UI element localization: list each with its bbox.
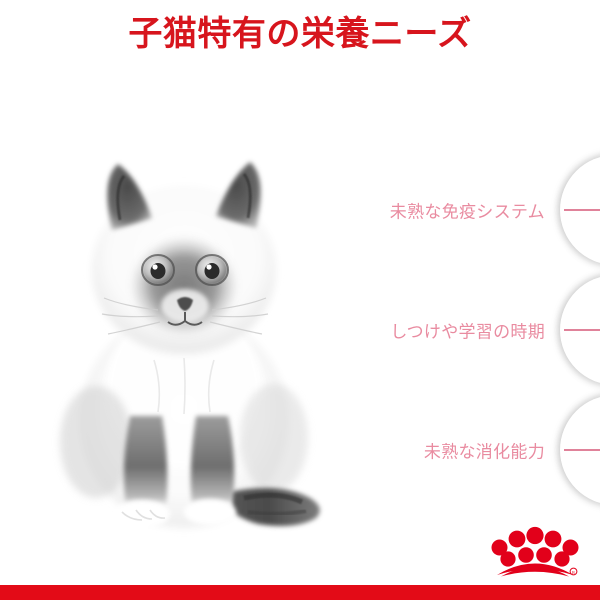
callout-connector-3	[564, 449, 600, 451]
kitten-nutrition-infographic: 子猫特有の栄養ニーズ	[0, 0, 600, 600]
kitten-photo	[34, 120, 354, 540]
callout-row-3: 未熟な消化能力	[330, 395, 600, 505]
callout-label-1: 未熟な免疫システム	[390, 198, 545, 223]
page-title: 子猫特有の栄養ニーズ	[0, 12, 600, 56]
callout-row-2: しつけや学習の時期	[330, 275, 600, 385]
svg-text:R: R	[572, 570, 575, 575]
callout-connector-2	[564, 329, 600, 331]
callout-label-3: 未熟な消化能力	[424, 438, 545, 463]
callout-label-2: しつけや学習の時期	[390, 318, 545, 343]
callout-connector-1	[564, 209, 600, 211]
callout-row-1: 未熟な免疫システム	[330, 155, 600, 265]
trademark-mark: R	[570, 568, 577, 575]
royal-canin-crown-logo: R	[489, 524, 581, 580]
bottom-red-bar	[0, 585, 600, 600]
